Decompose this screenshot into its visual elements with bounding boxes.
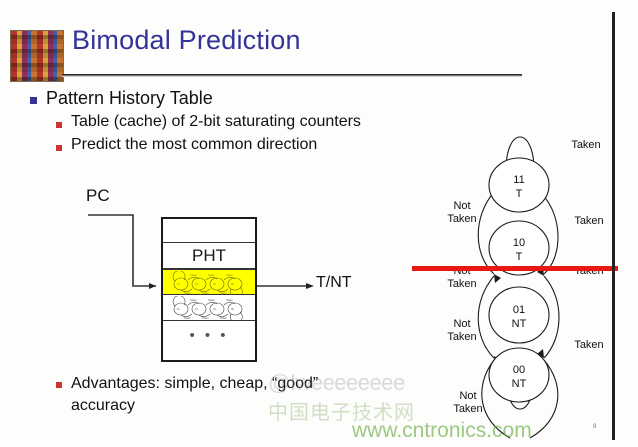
svg-text:Taken: Taken [447,331,476,343]
mini-counter-fsm-icon: 1110 0100 TakenTakenTaken TakenTakenTake… [169,296,249,320]
fsm-label-taken-1: Taken [571,139,600,151]
bullet-predict-common-direction: Predict the most common direction [56,136,317,154]
fsm-state-01[interactable]: 01 NT [489,287,549,343]
fsm-label-taken-4: Taken [574,339,603,351]
state-prediction: NT [512,378,527,390]
arrow-head-into-pht-icon [149,283,156,289]
bullet-label: Advantages: simple, cheap, “good” accura… [71,373,371,416]
arrow-head-to-output-icon [306,283,314,289]
svg-text:Taken: Taken [190,298,197,302]
svg-text:Taken: Taken [208,298,215,302]
fsm-state-00[interactable]: 00 NT [489,348,549,402]
bullet-square-icon [56,382,62,388]
mosaic-thumbnail-image-icon [10,30,64,82]
bullet-advantages: Advantages: simple, cheap, “good” accura… [56,373,371,416]
slide-canvas: Bimodal Prediction Pattern History Table… [0,0,638,447]
page-number: 8 [593,424,596,430]
mini-counter-fsm-icon: 1110 0100 TakenTakenTaken TakenTakenTake… [169,271,249,295]
pc-input-label: PC [86,186,110,206]
state-prediction: NT [512,318,527,330]
svg-text:Taken: Taken [202,316,209,320]
bullet-label: Predict the most common direction [71,136,317,154]
pht-table-label: PHT [163,243,255,269]
bullet-square-icon [56,122,62,128]
fsm-label-taken-2: Taken [574,215,603,227]
svg-text:Taken: Taken [226,273,233,277]
bullet-label: Table (cache) of 2-bit saturating counte… [71,113,361,131]
state-prediction: T [516,188,523,200]
bullet-label: Pattern History Table [46,88,213,109]
pht-row [163,219,255,243]
bullet-square-icon [56,145,62,151]
bullet-square-icon [30,97,37,104]
bullet-pattern-history-table: Pattern History Table [30,88,213,109]
svg-text:Taken: Taken [220,316,227,320]
state-code: 11 [513,174,524,186]
pht-table: 1110 0100 TakenTakenTaken TakenTakenTake… [161,217,257,362]
svg-text:Taken: Taken [447,278,476,290]
state-prediction: T [516,251,523,263]
svg-text:Not: Not [459,390,476,402]
svg-text:Taken: Taken [453,403,482,415]
fsm-state-11[interactable]: 11 T [489,158,549,212]
tnt-output-label: T/NT [316,274,352,292]
table-row[interactable]: 1110 0100 TakenTakenTaken TakenTakenTake… [163,295,255,321]
state-code: 01 [513,304,525,316]
prediction-boundary-divider [412,266,618,271]
svg-text:Not: Not [453,318,470,330]
fsm-label-not-taken-3: Not Taken [447,318,476,343]
table-row-highlighted[interactable]: 1110 0100 TakenTakenTaken TakenTakenTake… [163,269,255,295]
svg-text:Taken: Taken [226,298,233,302]
page-title: Bimodal Prediction [72,25,301,56]
svg-text:Taken: Taken [447,213,476,225]
slide-right-border [612,12,615,440]
fsm-label-not-taken-1: Not Taken [447,200,476,225]
svg-text:Taken: Taken [190,273,197,277]
svg-text:Not: Not [453,200,470,212]
fsm-label-not-taken-4: Not Taken [453,390,482,415]
state-code: 10 [513,237,525,249]
svg-text:Taken: Taken [184,316,191,320]
pht-ellipsis: • • • [163,327,255,344]
svg-text:Taken: Taken [208,273,215,277]
state-code: 00 [513,364,525,376]
saturating-counter-state-diagram: 11 T 10 T 01 NT 00 NT Not Taken Not Take… [410,108,620,443]
bullet-table-of-counters: Table (cache) of 2-bit saturating counte… [56,113,361,131]
title-divider [62,74,522,77]
